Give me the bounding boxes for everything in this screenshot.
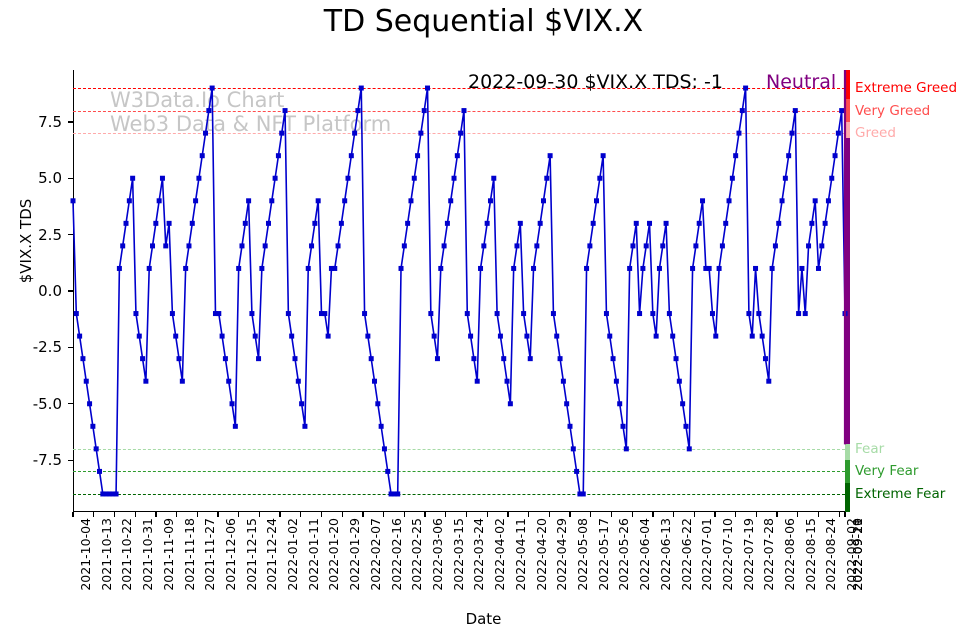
x-tick-label: 2021-11-09	[161, 518, 176, 591]
x-tick-mark	[135, 512, 136, 517]
x-tick-mark	[424, 512, 425, 517]
zone-label: Greed	[855, 125, 896, 141]
x-tick-label: 2021-10-22	[119, 518, 134, 591]
x-tick-mark	[776, 512, 777, 517]
x-tick-mark	[176, 512, 177, 517]
y-tick-label: -7.5	[8, 451, 62, 469]
x-tick-mark	[487, 512, 488, 517]
x-tick-mark	[528, 512, 529, 517]
x-tick-label: 2021-10-31	[140, 518, 155, 591]
y-tick-label: 2.5	[8, 226, 62, 244]
x-tick-mark	[93, 512, 94, 517]
x-tick-mark	[714, 512, 715, 517]
y-tick-mark	[68, 403, 74, 404]
x-tick-label: 2022-02-16	[389, 518, 404, 591]
y-tick-mark	[68, 460, 74, 461]
colorbar-segment	[845, 99, 850, 122]
x-tick-label: 2022-04-11	[513, 518, 528, 591]
y-tick-label: 7.5	[8, 113, 62, 131]
x-tick-label: 2022-03-24	[471, 518, 486, 591]
zone-label: Extreme Fear	[855, 486, 945, 502]
x-tick-mark	[279, 512, 280, 517]
x-tick-mark	[839, 512, 840, 517]
zone-line	[73, 88, 845, 89]
colorbar-segment	[845, 483, 850, 512]
x-tick-label: 2022-03-15	[451, 518, 466, 591]
x-tick-mark	[797, 512, 798, 517]
x-tick-label: 2022-02-25	[409, 518, 424, 591]
zone-line	[73, 471, 845, 472]
x-tick-mark	[652, 512, 653, 517]
x-tick-label: 2022-06-13	[658, 518, 673, 591]
x-tick-label: 2022-07-10	[720, 518, 735, 591]
x-tick-label: 2022-01-11	[306, 518, 321, 591]
zone-line	[73, 494, 845, 495]
x-tick-mark	[445, 512, 446, 517]
x-tick-mark	[404, 512, 405, 517]
x-tick-label: 2022-04-20	[534, 518, 549, 591]
y-tick-mark	[68, 347, 74, 348]
x-tick-label: 2022-01-20	[326, 518, 341, 591]
chart-page: TD Sequential $VIX.X W3Data.Io Chart Web…	[0, 0, 967, 633]
zone-label: Fear	[855, 441, 884, 457]
current-state-label: Neutral	[766, 71, 836, 93]
colorbar-segment	[845, 138, 850, 445]
x-axis-label: Date	[0, 610, 967, 628]
x-tick-label: 2022-05-26	[616, 518, 631, 591]
x-tick-label: 2022-07-28	[761, 518, 776, 591]
x-tick-mark	[155, 512, 156, 517]
x-tick-mark	[466, 512, 467, 517]
x-tick-mark	[611, 512, 612, 517]
x-tick-mark	[72, 512, 73, 517]
y-tick-mark	[68, 290, 74, 291]
x-tick-mark	[694, 512, 695, 517]
x-tick-mark	[844, 512, 845, 517]
x-tick-mark	[300, 512, 301, 517]
colorbar-segment	[845, 460, 850, 483]
y-tick-label: 5.0	[8, 169, 62, 187]
x-tick-mark	[818, 512, 819, 517]
x-tick-mark	[507, 512, 508, 517]
x-tick-label: 2022-08-06	[782, 518, 797, 591]
x-tick-mark	[632, 512, 633, 517]
y-tick-mark	[68, 178, 74, 179]
x-tick-mark	[569, 512, 570, 517]
x-tick-mark	[735, 512, 736, 517]
current-reading-label: 2022-09-30 $VIX.X TDS: -1	[468, 71, 723, 93]
zone-line	[73, 133, 845, 134]
x-tick-label: 2022-08-15	[803, 518, 818, 591]
x-tick-mark	[362, 512, 363, 517]
x-tick-mark	[673, 512, 674, 517]
zone-label: Very Greed	[855, 103, 930, 119]
y-tick-label: -2.5	[8, 338, 62, 356]
x-tick-label: 2022-04-02	[492, 518, 507, 591]
x-tick-mark	[197, 512, 198, 517]
x-tick-mark	[259, 512, 260, 517]
x-tick-label: 2022-03-06	[430, 518, 445, 591]
colorbar-segment	[845, 70, 850, 99]
zone-line	[73, 449, 845, 450]
x-tick-label: 2021-11-27	[202, 518, 217, 591]
x-tick-label: 2021-12-24	[264, 518, 279, 591]
x-tick-mark	[590, 512, 591, 517]
x-tick-label: 2021-12-06	[223, 518, 238, 591]
x-tick-label: 2021-10-04	[78, 518, 93, 591]
x-tick-mark	[549, 512, 550, 517]
plot-area	[73, 70, 845, 512]
x-tick-label: 2022-05-08	[575, 518, 590, 591]
x-tick-mark	[342, 512, 343, 517]
x-tick-label: 2022-07-01	[699, 518, 714, 591]
colorbar-segment	[845, 444, 850, 460]
x-tick-label: 2021-11-18	[182, 518, 197, 591]
x-tick-label: 2022-01-02	[285, 518, 300, 591]
x-tick-label: 2022-05-17	[596, 518, 611, 591]
x-tick-label: 2022-04-29	[554, 518, 569, 591]
x-tick-mark	[114, 512, 115, 517]
x-tick-label: 2022-07-19	[741, 518, 756, 591]
x-tick-label: 2021-10-13	[99, 518, 114, 591]
y-tick-label: -5.0	[8, 395, 62, 413]
x-tick-label: 2022-02-07	[368, 518, 383, 591]
zone-line	[73, 111, 845, 112]
zone-label: Very Fear	[855, 463, 918, 479]
page-title: TD Sequential $VIX.X	[0, 4, 967, 39]
x-tick-label: 2022-01-29	[347, 518, 362, 591]
x-tick-label: 2022-09-29	[850, 518, 865, 591]
x-tick-label: 2022-06-22	[679, 518, 694, 591]
x-tick-mark	[321, 512, 322, 517]
x-tick-mark	[383, 512, 384, 517]
x-tick-label: 2021-12-15	[244, 518, 259, 591]
x-tick-mark	[217, 512, 218, 517]
x-tick-mark	[756, 512, 757, 517]
x-tick-mark	[238, 512, 239, 517]
zone-label: Extreme Greed	[855, 80, 957, 96]
y-tick-mark	[68, 234, 74, 235]
x-tick-label: 2022-06-04	[637, 518, 652, 591]
x-tick-label: 2022-08-24	[823, 518, 838, 591]
y-tick-label: 0.0	[8, 282, 62, 300]
colorbar-segment	[845, 122, 850, 138]
y-tick-mark	[68, 121, 74, 122]
